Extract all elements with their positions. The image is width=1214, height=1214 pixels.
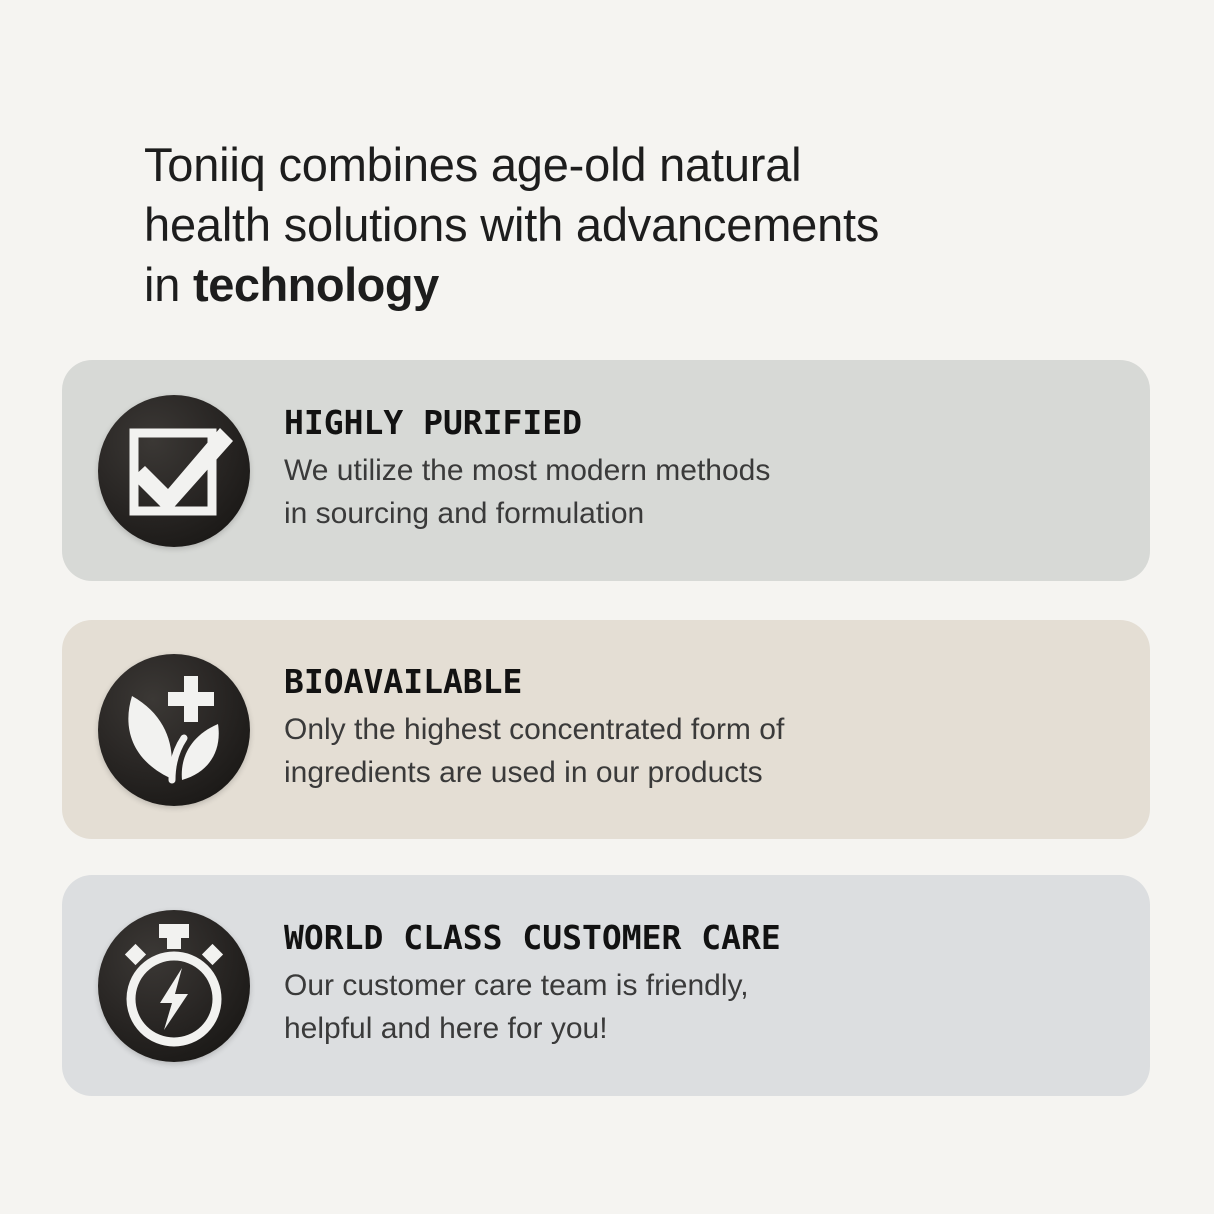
feature-icon-wrapper bbox=[98, 910, 250, 1062]
feature-description: Only the highest concentrated form of in… bbox=[284, 708, 1150, 794]
feature-icon-wrapper bbox=[98, 654, 250, 806]
feature-description-line-1: Our customer care team is friendly, bbox=[284, 964, 1150, 1007]
feature-description-line-2: helpful and here for you! bbox=[284, 1007, 1150, 1050]
stopwatch-bolt-icon bbox=[98, 910, 250, 1062]
feature-description: Our customer care team is friendly, help… bbox=[284, 964, 1150, 1050]
feature-title: HIGHLY PURIFIED bbox=[284, 403, 1150, 443]
headline-line-1: Toniiq combines age-old natural bbox=[144, 135, 1044, 195]
feature-icon-wrapper bbox=[98, 395, 250, 547]
headline-line-2: health solutions with advancements bbox=[144, 195, 1044, 255]
headline-emphasis: technology bbox=[193, 258, 439, 311]
infographic-page: Toniiq combines age-old natural health s… bbox=[0, 0, 1214, 1214]
feature-description: We utilize the most modern methods in so… bbox=[284, 449, 1150, 535]
page-title: Toniiq combines age-old natural health s… bbox=[144, 135, 1044, 315]
feature-description-line-2: in sourcing and formulation bbox=[284, 492, 1150, 535]
leaf-plus-icon bbox=[98, 654, 250, 806]
feature-card-bioavailable: BIOAVAILABLE Only the highest concentrat… bbox=[62, 620, 1150, 839]
feature-text-block: BIOAVAILABLE Only the highest concentrat… bbox=[284, 662, 1150, 798]
headline-line-3-prefix: in bbox=[144, 258, 193, 311]
feature-text-block: HIGHLY PURIFIED We utilize the most mode… bbox=[284, 403, 1150, 539]
feature-description-line-1: We utilize the most modern methods bbox=[284, 449, 1150, 492]
feature-card-highly-purified: HIGHLY PURIFIED We utilize the most mode… bbox=[62, 360, 1150, 581]
feature-description-line-1: Only the highest concentrated form of bbox=[284, 708, 1150, 751]
feature-description-line-2: ingredients are used in our products bbox=[284, 751, 1150, 794]
checkbox-check-icon bbox=[98, 395, 250, 547]
feature-card-customer-care: WORLD CLASS CUSTOMER CARE Our customer c… bbox=[62, 875, 1150, 1096]
feature-title: BIOAVAILABLE bbox=[284, 662, 1150, 702]
feature-title: WORLD CLASS CUSTOMER CARE bbox=[284, 918, 1150, 958]
headline-line-3: in technology bbox=[144, 255, 1044, 315]
feature-text-block: WORLD CLASS CUSTOMER CARE Our customer c… bbox=[284, 918, 1150, 1054]
